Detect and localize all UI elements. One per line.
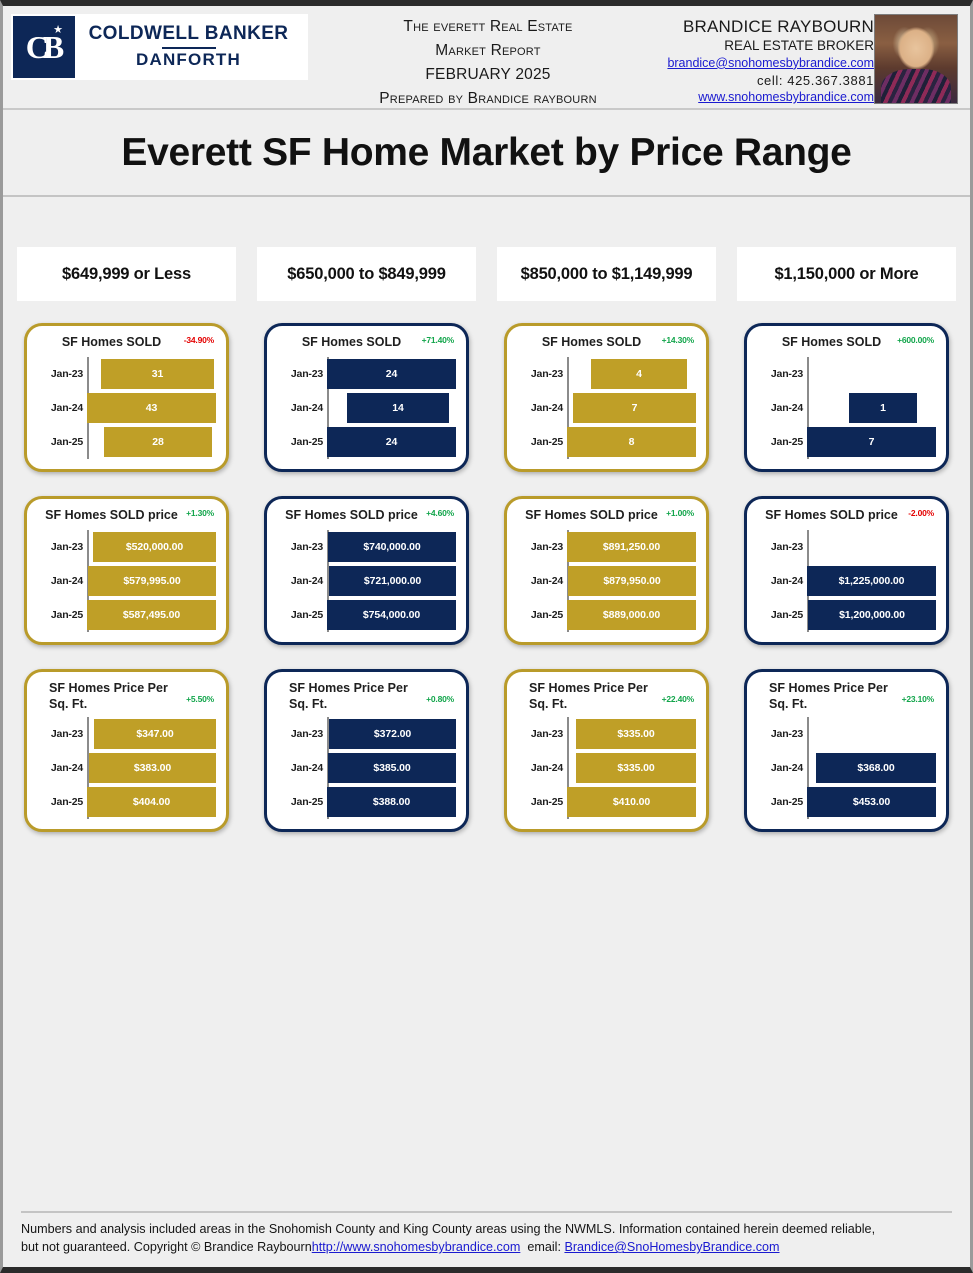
category-label: Jan-25 <box>275 796 323 808</box>
chart-bar-value: $385.00 <box>373 762 410 774</box>
percent-change-badge: +23.10% <box>902 694 934 704</box>
chart-bar-value: $721,000.00 <box>364 575 421 587</box>
chart-title-line-2: Sq. Ft. <box>289 697 448 713</box>
chart-bar-row: Jan-2324 <box>327 357 456 391</box>
chart-bar: $368.00 <box>816 753 936 783</box>
chart-bar-row: Jan-257 <box>807 425 936 459</box>
chart-bar-row: Jan-24$721,000.00 <box>327 564 456 598</box>
category-label: Jan-25 <box>35 796 83 808</box>
chart-bar-row: Jan-23$372.00 <box>327 717 456 751</box>
price-range-label: $649,999 or Less <box>62 265 191 284</box>
chart-card-head: SF Homes Price PerSq. Ft.+0.80% <box>275 680 456 715</box>
chart-card-slot: SF Homes SOLD+14.30%Jan-234Jan-247Jan-25… <box>497 323 716 472</box>
agent-headshot-torso <box>881 69 951 103</box>
chart-bar: 8 <box>567 427 696 457</box>
category-label: Jan-24 <box>275 762 323 774</box>
report-footer: Numbers and analysis included areas in t… <box>3 1211 970 1267</box>
chart-bar: $721,000.00 <box>329 566 456 596</box>
chart-card-slot: SF Homes SOLD-34.90%Jan-2331Jan-2443Jan-… <box>17 323 236 472</box>
chart-bar-row: Jan-25$754,000.00 <box>327 598 456 632</box>
bar-chart: Jan-23$740,000.00Jan-24$721,000.00Jan-25… <box>275 530 456 632</box>
category-label: Jan-25 <box>515 436 563 448</box>
footer-email-link[interactable]: Brandice@SnoHomesbyBrandice.com <box>564 1240 779 1254</box>
chart-bar-value: 4 <box>636 368 642 380</box>
category-label: Jan-25 <box>755 436 803 448</box>
chart-bar-row: Jan-2443 <box>87 391 216 425</box>
category-label: Jan-24 <box>755 762 803 774</box>
chart-row-sold: SF Homes SOLD-34.90%Jan-2331Jan-2443Jan-… <box>3 323 970 472</box>
category-label: Jan-24 <box>755 575 803 587</box>
chart-bar-row: Jan-25$889,000.00 <box>567 598 696 632</box>
chart-bar-value: $335.00 <box>617 762 654 774</box>
category-label: Jan-25 <box>755 609 803 621</box>
chart-bar-value: $879,950.00 <box>603 575 660 587</box>
chart-bar-value: $520,000.00 <box>126 541 183 553</box>
agent-phone: cell: 425.367.3881 <box>574 72 874 90</box>
chart-bar: 24 <box>327 359 456 389</box>
chart-bar-row: Jan-25$453.00 <box>807 785 936 819</box>
category-label: Jan-23 <box>35 728 83 740</box>
chart-bar-row: Jan-23$520,000.00 <box>87 530 216 564</box>
chart-bar: $891,250.00 <box>567 532 696 562</box>
chart-card-slot: SF Homes SOLD price+4.60%Jan-23$740,000.… <box>257 496 476 645</box>
bar-chart: Jan-2331Jan-2443Jan-2528 <box>35 357 216 459</box>
chart-bar-row: Jan-25$388.00 <box>327 785 456 819</box>
chart-card-slot: SF Homes SOLD price-2.00%Jan-23Jan-24$1,… <box>737 496 956 645</box>
price-range-header-0: $649,999 or Less <box>17 247 236 301</box>
chart-bar-row: Jan-23$891,250.00 <box>567 530 696 564</box>
chart-bar-row: Jan-234 <box>567 357 696 391</box>
chart-card-slot: SF Homes Price PerSq. Ft.+0.80%Jan-23$37… <box>257 669 476 832</box>
chart-bar: 7 <box>573 393 696 423</box>
chart-bar-row: Jan-241 <box>807 391 936 425</box>
logo-wordmark: COLDWELL BANKER DANFORTH <box>75 24 308 70</box>
chart-bar-row: Jan-23$335.00 <box>567 717 696 751</box>
agent-email-link[interactable]: brandice@snohomesbybrandice.com <box>574 55 874 72</box>
chart-bar-row: Jan-2414 <box>327 391 456 425</box>
chart-card-head: SF Homes Price PerSq. Ft.+22.40% <box>515 680 696 715</box>
chart-bar-value: $889,000.00 <box>603 609 660 621</box>
chart-bar: $335.00 <box>576 753 696 783</box>
chart-row-sold-price: SF Homes SOLD price+1.30%Jan-23$520,000.… <box>3 496 970 645</box>
agent-headshot <box>874 14 958 104</box>
chart-bar: 4 <box>591 359 687 389</box>
chart-card-slot: SF Homes SOLD price+1.30%Jan-23$520,000.… <box>17 496 236 645</box>
chart-bar: $453.00 <box>807 787 936 817</box>
chart-row-price-per-sqft: SF Homes Price PerSq. Ft.+5.50%Jan-23$34… <box>3 669 970 832</box>
footer-website-link[interactable]: http://www.snohomesbybrandice.com <box>312 1240 521 1254</box>
bar-chart: Jan-2324Jan-2414Jan-2524 <box>275 357 456 459</box>
chart-bar-value: 7 <box>869 436 875 448</box>
percent-change-badge: +4.60% <box>426 508 454 518</box>
bar-chart: Jan-23$520,000.00Jan-24$579,995.00Jan-25… <box>35 530 216 632</box>
chart-bar-value: $347.00 <box>136 728 173 740</box>
chart-bar: 28 <box>104 427 212 457</box>
category-label: Jan-24 <box>275 402 323 414</box>
chart-bar-row: Jan-25$587,495.00 <box>87 598 216 632</box>
price-range-label: $1,150,000 or More <box>774 265 918 284</box>
chart-bar-value: $383.00 <box>134 762 171 774</box>
chart-card[interactable]: SF Homes SOLD price+4.60%Jan-23$740,000.… <box>264 496 469 645</box>
category-label: Jan-23 <box>35 368 83 380</box>
chart-bar-row: Jan-24$335.00 <box>567 751 696 785</box>
chart-card-head: SF Homes SOLD+14.30% <box>515 334 696 355</box>
percent-change-badge: -2.00% <box>908 508 934 518</box>
footer-email-label: email: <box>527 1240 561 1254</box>
chart-bar-row: Jan-24$385.00 <box>327 751 456 785</box>
category-label: Jan-25 <box>275 436 323 448</box>
chart-bar: $1,200,000.00 <box>808 600 936 630</box>
category-label: Jan-25 <box>35 609 83 621</box>
chart-bar: $889,000.00 <box>567 600 696 630</box>
category-label: Jan-24 <box>35 402 83 414</box>
bar-chart: Jan-23$347.00Jan-24$383.00Jan-25$404.00 <box>35 717 216 819</box>
chart-bar-value: 28 <box>152 436 163 448</box>
chart-bar-row: Jan-24$879,950.00 <box>567 564 696 598</box>
brand-name: COLDWELL BANKER <box>75 24 302 45</box>
chart-bar-value: 43 <box>146 402 157 414</box>
chart-bar: $410.00 <box>567 787 696 817</box>
bar-chart: Jan-23Jan-24$368.00Jan-25$453.00 <box>755 717 936 819</box>
category-label: Jan-23 <box>35 541 83 553</box>
category-label: Jan-23 <box>755 541 803 553</box>
chart-bar-row: Jan-24$1,225,000.00 <box>807 564 936 598</box>
category-label: Jan-23 <box>515 728 563 740</box>
category-label: Jan-23 <box>755 728 803 740</box>
category-label: Jan-24 <box>515 402 563 414</box>
chart-bar-value: 24 <box>386 368 397 380</box>
page-title-band: Everett SF Home Market by Price Range <box>3 110 970 197</box>
percent-change-badge: +600.00% <box>897 335 934 345</box>
chart-bar-row: Jan-25$404.00 <box>87 785 216 819</box>
chart-title-line-1: SF Homes Price Per <box>49 681 208 697</box>
chart-card-slot: SF Homes Price PerSq. Ft.+23.10%Jan-23Ja… <box>737 669 956 832</box>
agent-title: REAL ESTATE BROKER <box>574 37 874 55</box>
category-label: Jan-24 <box>275 575 323 587</box>
chart-bar-value: $410.00 <box>613 796 650 808</box>
chart-bar-value: $1,225,000.00 <box>839 575 905 587</box>
chart-bar: 24 <box>327 427 456 457</box>
coldwell-banker-logo: CB ★ COLDWELL BANKER DANFORTH <box>11 14 308 80</box>
market-report-page: CB ★ COLDWELL BANKER DANFORTH The everet… <box>0 0 973 1273</box>
category-label: Jan-24 <box>35 762 83 774</box>
chart-bar: $587,495.00 <box>87 600 216 630</box>
category-label: Jan-25 <box>35 436 83 448</box>
chart-card[interactable]: SF Homes SOLD+71.40%Jan-2324Jan-2414Jan-… <box>264 323 469 472</box>
chart-bar-row: Jan-23 <box>807 357 936 391</box>
category-label: Jan-23 <box>755 368 803 380</box>
chart-card-slot: SF Homes SOLD price+1.00%Jan-23$891,250.… <box>497 496 716 645</box>
chart-bar: $404.00 <box>87 787 216 817</box>
chart-bar-value: 8 <box>629 436 635 448</box>
chart-card[interactable]: SF Homes SOLD price+1.00%Jan-23$891,250.… <box>504 496 709 645</box>
chart-bar: $579,995.00 <box>88 566 216 596</box>
chart-bar-row: Jan-2524 <box>327 425 456 459</box>
chart-bar: $520,000.00 <box>93 532 216 562</box>
chart-bar-value: 24 <box>386 436 397 448</box>
category-label: Jan-23 <box>515 368 563 380</box>
chart-bar: $1,225,000.00 <box>807 566 936 596</box>
chart-bar-value: 14 <box>392 402 403 414</box>
bar-chart: Jan-23Jan-241Jan-257 <box>755 357 936 459</box>
chart-card-head: SF Homes SOLD price+1.30% <box>35 507 216 528</box>
chart-bar-row: Jan-23 <box>807 530 936 564</box>
chart-bar: $879,950.00 <box>568 566 696 596</box>
footer-disclaimer: Numbers and analysis included areas in t… <box>21 1221 952 1257</box>
category-label: Jan-25 <box>755 796 803 808</box>
chart-bar: 14 <box>347 393 449 423</box>
category-label: Jan-24 <box>755 402 803 414</box>
chart-bar-value: 7 <box>632 402 638 414</box>
chart-bar-row: Jan-23$347.00 <box>87 717 216 751</box>
cb-monogram-icon: CB ★ <box>13 16 75 78</box>
chart-bar-row: Jan-23$740,000.00 <box>327 530 456 564</box>
logo-divider <box>162 47 216 49</box>
bar-chart: Jan-234Jan-247Jan-258 <box>515 357 696 459</box>
page-title: Everett SF Home Market by Price Range <box>121 131 851 175</box>
chart-bar-value: $891,250.00 <box>603 541 660 553</box>
chart-card-head: SF Homes Price PerSq. Ft.+23.10% <box>755 680 936 715</box>
chart-bar-row: Jan-24$383.00 <box>87 751 216 785</box>
chart-bar-value: $1,200,000.00 <box>839 609 905 621</box>
chart-bar-value: 1 <box>880 402 886 414</box>
category-label: Jan-23 <box>275 541 323 553</box>
category-label: Jan-24 <box>515 575 563 587</box>
chart-bar-value: $579,995.00 <box>123 575 180 587</box>
agent-contact-block: BRANDICE RAYBOURN REAL ESTATE BROKER bra… <box>574 16 874 106</box>
category-label: Jan-25 <box>515 796 563 808</box>
report-content: $649,999 or Less $650,000 to $849,999 $8… <box>3 247 970 832</box>
chart-card-head: SF Homes SOLD+71.40% <box>275 334 456 355</box>
percent-change-badge: +71.40% <box>422 335 454 345</box>
category-label: Jan-24 <box>515 762 563 774</box>
chart-card[interactable]: SF Homes Price PerSq. Ft.+0.80%Jan-23$37… <box>264 669 469 832</box>
percent-change-badge: +14.30% <box>662 335 694 345</box>
chart-bar: $740,000.00 <box>328 532 456 562</box>
percent-change-badge: +0.80% <box>426 694 454 704</box>
chart-bar: $385.00 <box>328 753 456 783</box>
chart-card-slot: SF Homes SOLD+71.40%Jan-2324Jan-2414Jan-… <box>257 323 476 472</box>
price-range-label: $850,000 to $1,149,999 <box>521 265 693 284</box>
chart-card-head: SF Homes SOLD price+4.60% <box>275 507 456 528</box>
chart-card-head: SF Homes SOLD price+1.00% <box>515 507 696 528</box>
chart-bar: $347.00 <box>94 719 216 749</box>
chart-bar: $335.00 <box>576 719 696 749</box>
category-label: Jan-25 <box>275 609 323 621</box>
chart-bar-row: Jan-24$579,995.00 <box>87 564 216 598</box>
agent-name: BRANDICE RAYBOURN <box>574 16 874 37</box>
chart-card-head: SF Homes Price PerSq. Ft.+5.50% <box>35 680 216 715</box>
percent-change-badge: +1.30% <box>186 508 214 518</box>
footer-line-1: Numbers and analysis included areas in t… <box>21 1222 875 1236</box>
category-label: Jan-23 <box>275 728 323 740</box>
chart-bar: $383.00 <box>89 753 216 783</box>
price-range-header-3: $1,150,000 or More <box>737 247 956 301</box>
chart-bar: $754,000.00 <box>327 600 456 630</box>
chart-card-head: SF Homes SOLD+600.00% <box>755 334 936 355</box>
chart-bar: 43 <box>87 393 216 423</box>
bar-chart: Jan-23Jan-24$1,225,000.00Jan-25$1,200,00… <box>755 530 936 632</box>
chart-bar-value: $335.00 <box>617 728 654 740</box>
chart-title-line-2: Sq. Ft. <box>49 697 208 713</box>
chart-card-head: SF Homes SOLD price-2.00% <box>755 507 936 528</box>
price-range-header-2: $850,000 to $1,149,999 <box>497 247 716 301</box>
bar-chart: Jan-23$335.00Jan-24$335.00Jan-25$410.00 <box>515 717 696 819</box>
chart-bar-value: $368.00 <box>857 762 894 774</box>
chart-bar: 1 <box>849 393 917 423</box>
category-label: Jan-23 <box>515 541 563 553</box>
chart-bar-value: $404.00 <box>133 796 170 808</box>
chart-card[interactable]: SF Homes SOLD+600.00%Jan-23Jan-241Jan-25… <box>744 323 949 472</box>
chart-card[interactable]: SF Homes SOLD price+1.30%Jan-23$520,000.… <box>24 496 229 645</box>
chart-card-slot: SF Homes SOLD+600.00%Jan-23Jan-241Jan-25… <box>737 323 956 472</box>
chart-bar: $388.00 <box>327 787 456 817</box>
chart-card[interactable]: SF Homes Price PerSq. Ft.+5.50%Jan-23$34… <box>24 669 229 832</box>
footer-divider <box>21 1211 952 1213</box>
chart-bar-value: $740,000.00 <box>363 541 420 553</box>
chart-card[interactable]: SF Homes Price PerSq. Ft.+22.40%Jan-23$3… <box>504 669 709 832</box>
chart-bar-row: Jan-258 <box>567 425 696 459</box>
bar-chart: Jan-23$372.00Jan-24$385.00Jan-25$388.00 <box>275 717 456 819</box>
category-label: Jan-23 <box>275 368 323 380</box>
category-label: Jan-25 <box>515 609 563 621</box>
chart-card[interactable]: SF Homes SOLD price-2.00%Jan-23Jan-24$1,… <box>744 496 949 645</box>
chart-card-head: SF Homes SOLD-34.90% <box>35 334 216 355</box>
chart-title-line-1: SF Homes Price Per <box>289 681 448 697</box>
chart-bar-row: Jan-2331 <box>87 357 216 391</box>
chart-bar-row: Jan-24$368.00 <box>807 751 936 785</box>
chart-card[interactable]: SF Homes Price PerSq. Ft.+23.10%Jan-23Ja… <box>744 669 949 832</box>
chart-bar-value: $453.00 <box>853 796 890 808</box>
chart-bar-value: $754,000.00 <box>363 609 420 621</box>
chart-card-slot: SF Homes Price PerSq. Ft.+5.50%Jan-23$34… <box>17 669 236 832</box>
category-label: Jan-24 <box>35 575 83 587</box>
chart-bar-value: $587,495.00 <box>123 609 180 621</box>
chart-bar-value: 31 <box>152 368 163 380</box>
chart-bar-row: Jan-2528 <box>87 425 216 459</box>
price-range-header-1: $650,000 to $849,999 <box>257 247 476 301</box>
bar-chart: Jan-23$891,250.00Jan-24$879,950.00Jan-25… <box>515 530 696 632</box>
chart-bar-value: $372.00 <box>374 728 411 740</box>
percent-change-badge: +1.00% <box>666 508 694 518</box>
brand-office: DANFORTH <box>75 51 302 70</box>
price-range-header-row: $649,999 or Less $650,000 to $849,999 $8… <box>3 247 970 301</box>
chart-bar-row: Jan-25$1,200,000.00 <box>807 598 936 632</box>
chart-bar-value: $388.00 <box>373 796 410 808</box>
chart-bar-row: Jan-247 <box>567 391 696 425</box>
agent-website-link[interactable]: www.snohomesbybrandice.com <box>574 89 874 106</box>
chart-bar: $372.00 <box>329 719 456 749</box>
chart-bar-row: Jan-25$410.00 <box>567 785 696 819</box>
star-icon: ★ <box>53 25 63 36</box>
percent-change-badge: +22.40% <box>662 694 694 704</box>
chart-card[interactable]: SF Homes SOLD-34.90%Jan-2331Jan-2443Jan-… <box>24 323 229 472</box>
chart-bar: 31 <box>101 359 214 389</box>
chart-card[interactable]: SF Homes SOLD+14.30%Jan-234Jan-247Jan-25… <box>504 323 709 472</box>
price-range-label: $650,000 to $849,999 <box>287 265 445 284</box>
report-header: CB ★ COLDWELL BANKER DANFORTH The everet… <box>3 6 970 110</box>
percent-change-badge: -34.90% <box>184 335 214 345</box>
chart-card-slot: SF Homes Price PerSq. Ft.+22.40%Jan-23$3… <box>497 669 716 832</box>
footer-copyright: but not guaranteed. Copyright © Brandice… <box>21 1240 312 1254</box>
chart-bar-row: Jan-23 <box>807 717 936 751</box>
percent-change-badge: +5.50% <box>186 694 214 704</box>
chart-bar: 7 <box>807 427 936 457</box>
